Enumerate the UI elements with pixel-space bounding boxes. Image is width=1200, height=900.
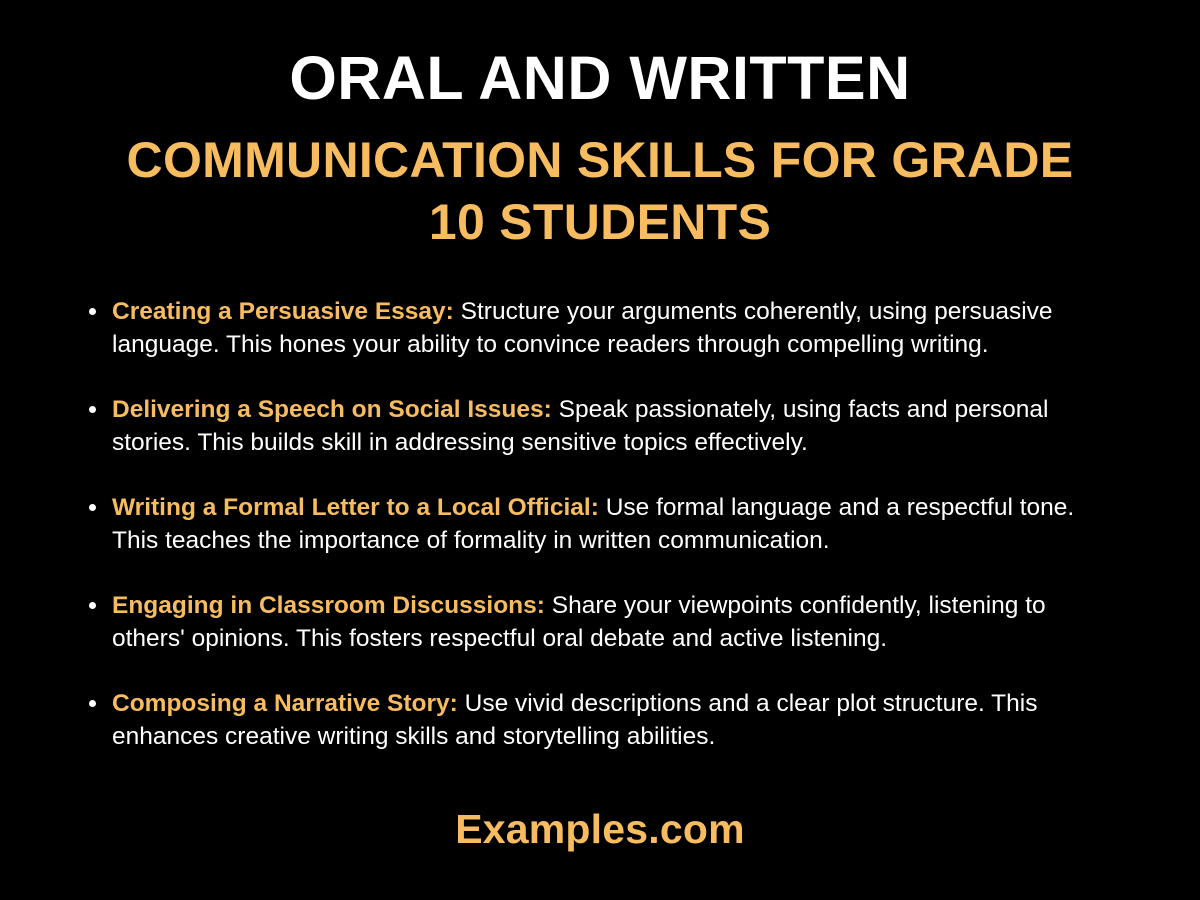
title-block: ORAL AND WRITTEN COMMUNICATION SKILLS FO…	[70, 46, 1130, 253]
poster-canvas: ORAL AND WRITTEN COMMUNICATION SKILLS FO…	[0, 0, 1200, 900]
bullet-dot-icon	[89, 308, 96, 315]
bullet-dot-icon	[89, 602, 96, 609]
list-item: Composing a Narrative Story: Use vivid d…	[80, 687, 1120, 753]
bullet-dot-icon	[89, 700, 96, 707]
bullet-dot-icon	[89, 406, 96, 413]
list-item-lead: Creating a Persuasive Essay:	[112, 298, 454, 325]
bullet-dot-icon	[89, 504, 96, 511]
page-subtitle: COMMUNICATION SKILLS FOR GRADE 10 STUDEN…	[120, 129, 1080, 253]
list-item-lead: Engaging in Classroom Discussions:	[112, 592, 545, 619]
list-item: Creating a Persuasive Essay: Structure y…	[80, 295, 1120, 361]
list-item: Engaging in Classroom Discussions: Share…	[80, 589, 1120, 655]
list-item-lead: Writing a Formal Letter to a Local Offic…	[112, 494, 599, 521]
bullet-list: Creating a Persuasive Essay: Structure y…	[80, 295, 1120, 753]
list-item-lead: Delivering a Speech on Social Issues:	[112, 396, 552, 423]
brand-watermark: Examples.com	[0, 806, 1200, 853]
list-item-lead: Composing a Narrative Story:	[112, 690, 458, 717]
list-item: Delivering a Speech on Social Issues: Sp…	[80, 393, 1120, 459]
page-title: ORAL AND WRITTEN	[70, 46, 1130, 111]
list-item: Writing a Formal Letter to a Local Offic…	[80, 491, 1120, 557]
